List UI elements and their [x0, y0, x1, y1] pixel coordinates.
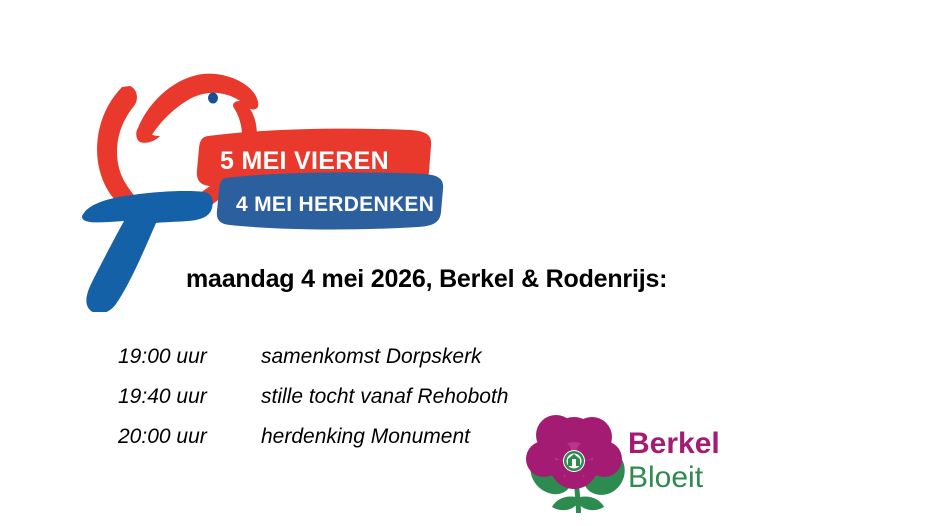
sponsor-logo-artwork: Berkel Bloeit: [524, 409, 724, 517]
schedule-row: 19:40 uur stille tocht vanaf Rehoboth: [118, 385, 588, 425]
schedule-row: 20:00 uur herdenking Monument: [118, 425, 588, 465]
banner-top-text: 5 MEI VIEREN: [220, 147, 389, 175]
dove-eye-icon: [208, 93, 218, 104]
banner-bottom-text: 4 MEI HERDENKEN: [236, 193, 434, 216]
sponsor-name-line2: Bloeit: [628, 461, 704, 494]
schedule-time: 19:00 uur: [118, 345, 261, 369]
event-heading: maandag 4 mei 2026, Berkel & Rodenrijs:: [186, 265, 667, 294]
sponsor-name-line1: Berkel: [628, 427, 720, 460]
banner-4-mei-herdenken: 4 MEI HERDENKEN: [217, 172, 443, 229]
schedule-row: 19:00 uur samenkomst Dorpskerk: [118, 345, 588, 385]
schedule-list: 19:00 uur samenkomst Dorpskerk 19:40 uur…: [118, 345, 588, 465]
schedule-time: 19:40 uur: [118, 385, 261, 409]
schedule-description: samenkomst Dorpskerk: [261, 345, 482, 369]
schedule-description: herdenking Monument: [261, 425, 470, 449]
schedule-description: stille tocht vanaf Rehoboth: [261, 385, 509, 409]
schedule-time: 20:00 uur: [118, 425, 261, 449]
sponsor-logo: Berkel Bloeit: [524, 409, 724, 517]
